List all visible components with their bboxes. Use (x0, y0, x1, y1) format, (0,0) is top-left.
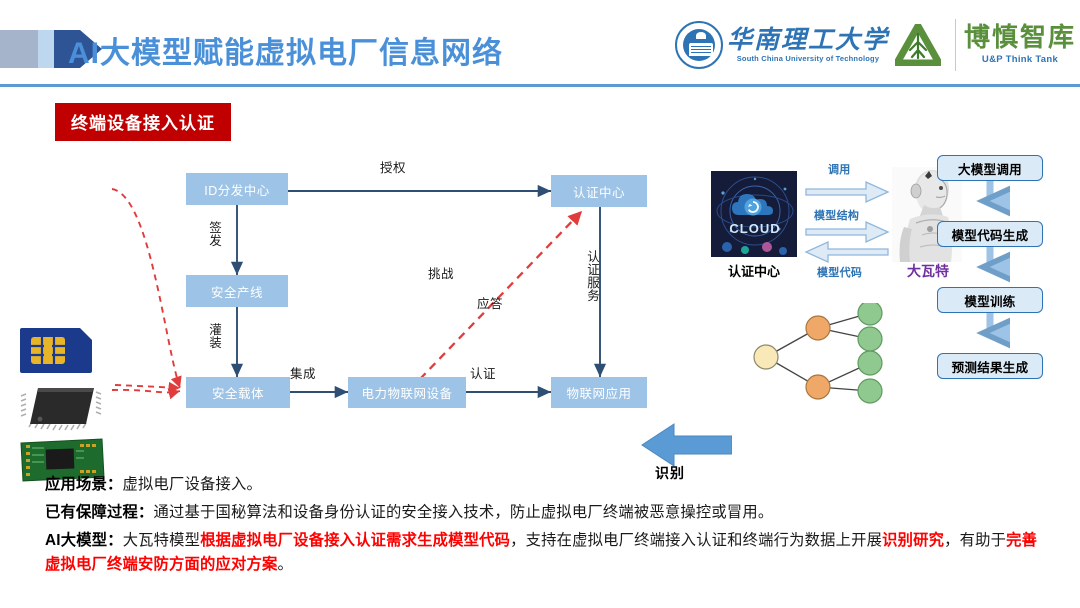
architecture-diagram: ID分发中心 安全产线 安全载体 电力物联网设备 认证中心 物联网应用 授权 签… (0, 145, 1080, 465)
text-ai-model-c: ，有助于 (944, 532, 1006, 549)
arrow-label-model-code: 模型代码 (817, 264, 862, 280)
slide-header: AI大模型赋能虚拟电厂信息网络 华南理工大学 South China Unive… (0, 0, 1080, 88)
desc-line-ai-model: AI大模型：大瓦特模型根据虚拟电厂设备接入认证需求生成模型代码，支持在虚拟电厂终… (45, 529, 1045, 579)
text-application-scenario: 虚拟电厂设备接入。 (123, 476, 262, 493)
ic-chip-image (18, 382, 104, 432)
text-ai-model-d: 。 (277, 556, 293, 573)
scut-name-cn: 华南理工大学 (727, 27, 889, 53)
edge-label-issue: 签发 (205, 221, 224, 247)
logo-area: 华南理工大学 South China University of Technol… (675, 14, 1076, 76)
description-block: 应用场景：虚拟电厂设备接入。 已有保障过程：通过基于国秘算法和设备身份认证的安全… (45, 473, 1045, 581)
decision-tree-graph (740, 303, 900, 411)
partner-name-en: U&P Think Tank (982, 54, 1058, 65)
ai-model-panel: CLOUD 认证中心 (700, 145, 1080, 445)
label-ai-model: AI大模型： (45, 532, 123, 549)
scut-logo: 华南理工大学 South China University of Technol… (727, 27, 889, 63)
scut-seal-icon (675, 21, 723, 69)
node-secure-carrier[interactable]: 安全载体 (186, 377, 290, 408)
ai-robot-image (892, 167, 962, 262)
edge-label-integrate: 集成 (290, 363, 316, 382)
page-title: AI大模型赋能虚拟电厂信息网络 (68, 28, 503, 72)
scut-name-en: South China University of Technology (737, 54, 880, 63)
node-id-center[interactable]: ID分发中心 (186, 173, 288, 205)
edge-label-authorize: 授权 (380, 157, 406, 176)
text-ai-model-highlight-2: 识别研究 (882, 532, 944, 549)
header-divider (0, 84, 1080, 87)
desc-line-existing-process: 已有保障过程：通过基于国秘算法和设备身份认证的安全接入技术，防止虚拟电厂终端被恶… (45, 501, 1045, 526)
think-tank-triangle-icon (895, 24, 941, 66)
edge-label-response: 应答 (477, 293, 503, 312)
desc-line-application-scenario: 应用场景：虚拟电厂设备接入。 (45, 473, 1045, 498)
flowbox-prediction-result-gen[interactable]: 预测结果生成 (937, 353, 1043, 379)
cloud-caption: 认证中心 (706, 261, 802, 280)
edge-label-auth-service: 认证服务 (583, 250, 602, 302)
label-application-scenario: 应用场景： (45, 476, 123, 493)
flowbox-model-training[interactable]: 模型训练 (937, 287, 1043, 313)
arrow-label-invoke: 调用 (828, 161, 851, 177)
node-secure-line[interactable]: 安全产线 (186, 275, 288, 307)
partner-name-cn: 博慎智库 (964, 25, 1076, 52)
text-existing-process: 通过基于国秘算法和设备身份认证的安全接入技术，防止虚拟电厂终端被恶意操控或冒用。 (153, 504, 773, 521)
label-existing-process: 已有保障过程： (45, 504, 153, 521)
edge-label-fill: 灌装 (205, 323, 224, 349)
logo-divider (955, 19, 956, 71)
text-ai-model-highlight-1: 根据虚拟电厂设备接入认证需求生成模型代码 (200, 532, 510, 549)
flowbox-model-invoke[interactable]: 大模型调用 (937, 155, 1043, 181)
cloud-auth-center-image: CLOUD (710, 170, 798, 258)
node-power-iot-device[interactable]: 电力物联网设备 (348, 377, 466, 408)
cloud-label-text: CLOUD (729, 221, 780, 236)
arrow-label-model-structure: 模型结构 (814, 207, 859, 223)
node-iot-app[interactable]: 物联网应用 (551, 377, 647, 408)
sim-card-image (20, 328, 92, 373)
flowbox-model-code-gen[interactable]: 模型代码生成 (937, 221, 1043, 247)
partner-logo: 博慎智库 U&P Think Tank (964, 25, 1076, 65)
text-ai-model-a: 大瓦特模型 (123, 532, 201, 549)
node-auth-center[interactable]: 认证中心 (551, 175, 647, 207)
edge-label-authenticate: 认证 (470, 363, 496, 382)
robot-caption: 大瓦特 (888, 261, 968, 281)
edge-label-challenge: 挑战 (428, 263, 454, 282)
section-tag: 终端设备接入认证 (55, 103, 231, 141)
text-ai-model-b: ，支持在虚拟电厂终端接入认证和终端行为数据上开展 (510, 532, 882, 549)
